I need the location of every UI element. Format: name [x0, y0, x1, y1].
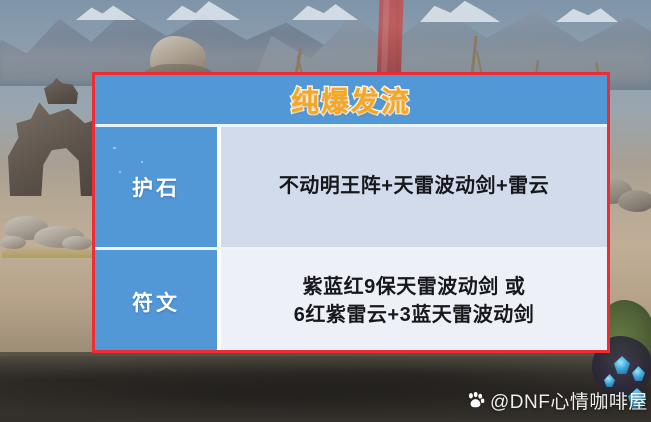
- screenshot-root: 纯爆发流 护石 不动明王阵+天雷波动剑+雷云 符文 紫蓝红9保天雷波动剑 或 6…: [0, 0, 651, 422]
- row-value-line: 不动明王阵+天雷波动剑+雷云: [279, 173, 549, 201]
- build-info-card: 纯爆发流 护石 不动明王阵+天雷波动剑+雷云 符文 紫蓝红9保天雷波动剑 或 6…: [92, 72, 610, 353]
- watermark: @DNF心情咖啡屋: [466, 387, 648, 414]
- table-row: 符文 紫蓝红9保天雷波动剑 或 6红紫雷云+3蓝天雷波动剑: [95, 250, 607, 353]
- row-value-line: 6红紫雷云+3蓝天雷波动剑: [294, 302, 534, 330]
- row-label-cell-fuwen: 符文: [95, 250, 221, 353]
- dry-scrub-grass: [2, 246, 94, 258]
- row-label-text: 护石: [132, 172, 180, 202]
- row-value-line: 紫蓝红9保天雷波动剑 或: [303, 274, 526, 302]
- card-title: 纯爆发流: [291, 80, 411, 120]
- baidu-paw-icon: [466, 391, 485, 410]
- row-value-cell-fuwen: 紫蓝红9保天雷波动剑 或 6红紫雷云+3蓝天雷波动剑: [221, 250, 607, 353]
- row-label-text: 符文: [132, 287, 180, 317]
- noise-speck: [141, 161, 143, 163]
- row-label-cell-hushi: 护石: [95, 127, 221, 247]
- card-header: 纯爆发流: [95, 75, 607, 127]
- table-row: 护石 不动明王阵+天雷波动剑+雷云: [95, 127, 607, 250]
- row-value-cell-hushi: 不动明王阵+天雷波动剑+雷云: [221, 127, 607, 247]
- noise-speck: [119, 171, 121, 173]
- noise-speck: [113, 147, 116, 149]
- watermark-text: @DNF心情咖啡屋: [490, 387, 648, 414]
- boulder: [618, 190, 651, 212]
